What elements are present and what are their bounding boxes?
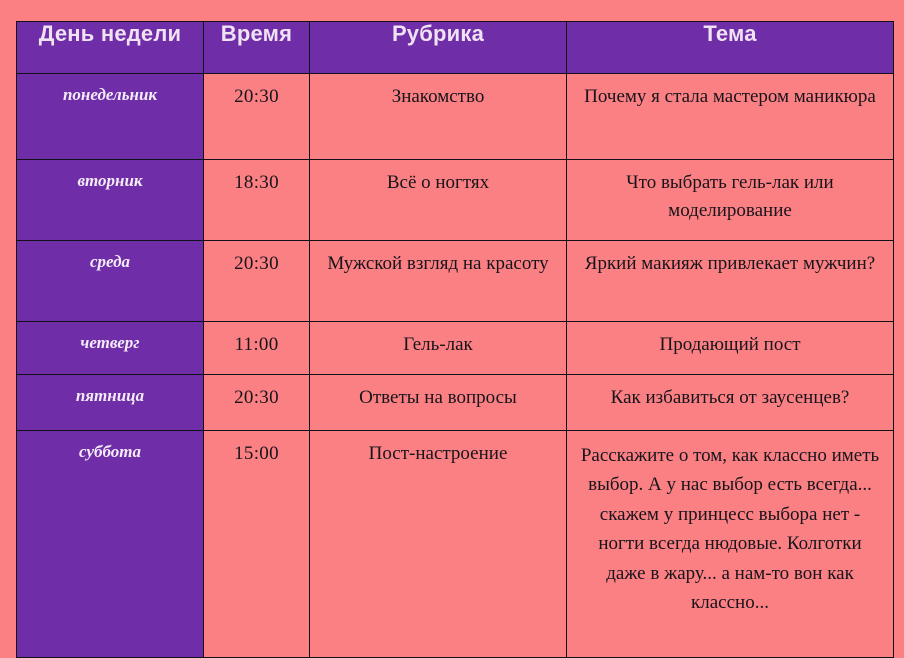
cell-day-friday: пятница: [17, 375, 204, 431]
column-header-rubric: Рубрика: [310, 22, 567, 74]
cell-time-tuesday: 18:30: [204, 160, 310, 241]
cell-day-thursday: четверг: [17, 322, 204, 375]
cell-topic-wednesday: Яркий макияж привлекает мужчин?: [567, 241, 894, 322]
page-background: День недели Время Рубрика Тема понедельн…: [0, 0, 904, 580]
cell-topic-tuesday: Что выбрать гель-лак или моделирование: [567, 160, 894, 241]
cell-day-monday: понедельник: [17, 74, 204, 160]
cell-rubric-thursday: Гель-лак: [310, 322, 567, 375]
cell-time-wednesday: 20:30: [204, 241, 310, 322]
cell-rubric-monday: Знакомство: [310, 74, 567, 160]
cell-rubric-friday: Ответы на вопросы: [310, 375, 567, 431]
table-row: понедельник 20:30 Знакомство Почему я ст…: [17, 74, 894, 160]
table-row: вторник 18:30 Всё о ногтях Что выбрать г…: [17, 160, 894, 241]
table-header: День недели Время Рубрика Тема: [17, 22, 894, 74]
column-header-time: Время: [204, 22, 310, 74]
cell-time-saturday: 15:00: [204, 431, 310, 658]
cell-rubric-wednesday: Мужской взгляд на красоту: [310, 241, 567, 322]
cell-day-saturday: суббота: [17, 431, 204, 658]
table-row: среда 20:30 Мужской взгляд на красоту Яр…: [17, 241, 894, 322]
table-row: пятница 20:30 Ответы на вопросы Как изба…: [17, 375, 894, 431]
column-header-day: День недели: [17, 22, 204, 74]
cell-topic-friday: Как избавиться от заусенцев?: [567, 375, 894, 431]
cell-day-wednesday: среда: [17, 241, 204, 322]
cell-topic-thursday: Продающий пост: [567, 322, 894, 375]
table-body: понедельник 20:30 Знакомство Почему я ст…: [17, 74, 894, 658]
table-row: суббота 15:00 Пост-настроение Расскажите…: [17, 431, 894, 658]
cell-topic-saturday: Расскажите о том, как классно иметь выбо…: [567, 431, 894, 658]
header-row: День недели Время Рубрика Тема: [17, 22, 894, 74]
cell-time-friday: 20:30: [204, 375, 310, 431]
cell-day-tuesday: вторник: [17, 160, 204, 241]
cell-rubric-tuesday: Всё о ногтях: [310, 160, 567, 241]
table-row: четверг 11:00 Гель-лак Продающий пост: [17, 322, 894, 375]
cell-time-monday: 20:30: [204, 74, 310, 160]
column-header-topic: Тема: [567, 22, 894, 74]
cell-time-thursday: 11:00: [204, 322, 310, 375]
cell-topic-monday: Почему я стала мастером маникюра: [567, 74, 894, 160]
cell-rubric-saturday: Пост-настроение: [310, 431, 567, 658]
weekly-content-plan-table: День недели Время Рубрика Тема понедельн…: [16, 21, 894, 658]
